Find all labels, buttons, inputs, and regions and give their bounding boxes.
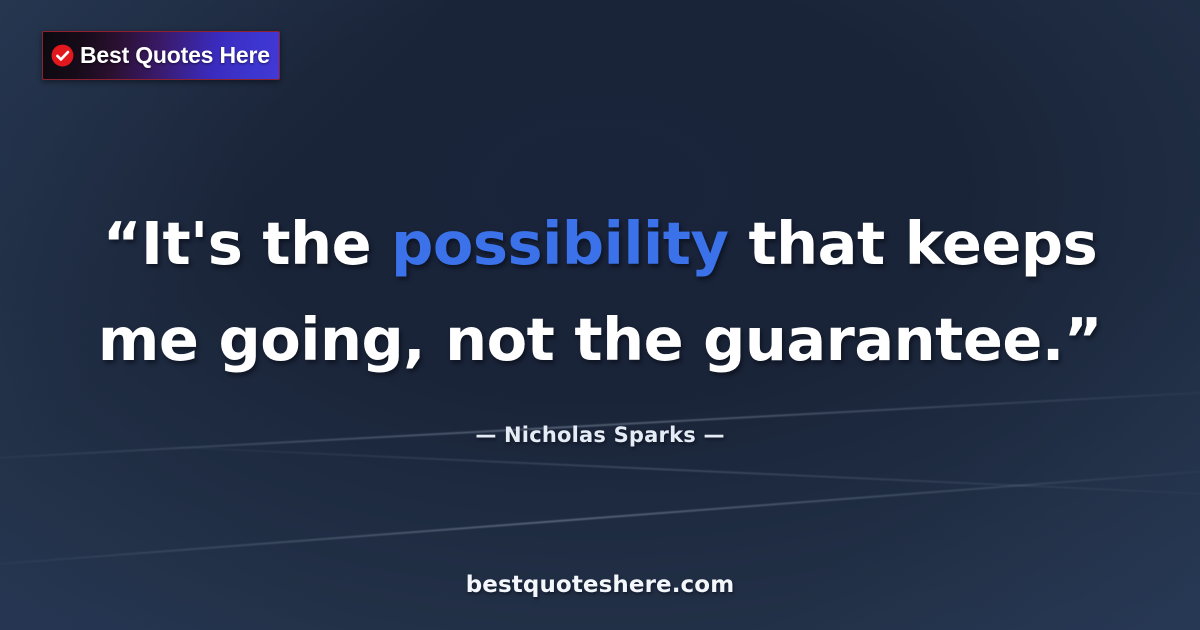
check-circle-icon [50, 43, 75, 68]
quote-open-mark: “ [103, 209, 141, 278]
quote-card: Best Quotes Here “It's the possibility t… [0, 0, 1200, 630]
quote-author: — Nicholas Sparks — [70, 425, 1130, 446]
light-streak [121, 444, 1200, 498]
quote-text: “It's the possibility that keeps me goin… [70, 196, 1130, 387]
quote-highlight-word: possibility [391, 209, 728, 278]
brand-logo-badge[interactable]: Best Quotes Here [42, 31, 280, 80]
quote-block: “It's the possibility that keeps me goin… [0, 196, 1200, 446]
quote-close-mark: ” [1064, 305, 1102, 374]
quote-segment-before: It's the [141, 209, 391, 278]
light-streak [0, 466, 1200, 567]
brand-logo-label: Best Quotes Here [80, 44, 270, 67]
site-url-footer: bestquoteshere.com [0, 574, 1200, 597]
